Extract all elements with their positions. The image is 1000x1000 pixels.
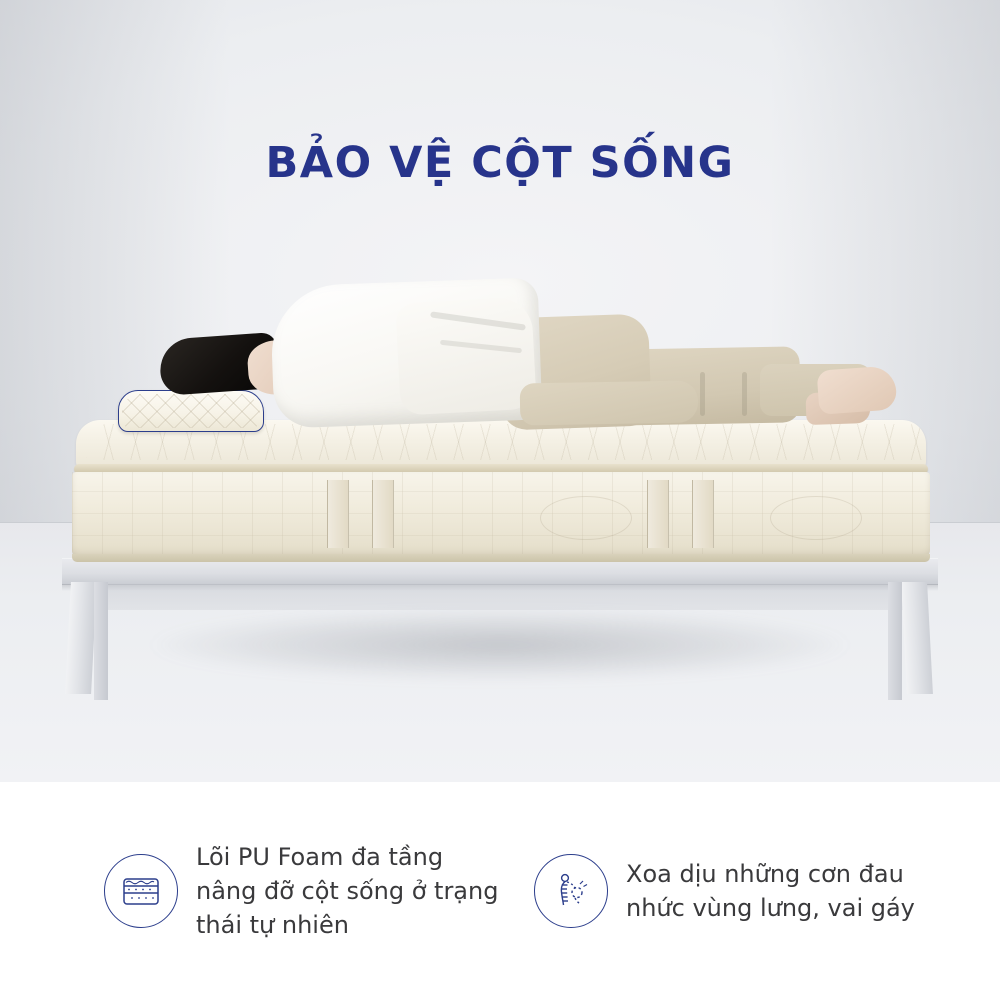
feature-bar: Lõi PU Foam đa tầng nâng đỡ cột sống ở t… [0, 782, 1000, 1000]
feature-item-1: Lõi PU Foam đa tầng nâng đỡ cột sống ở t… [104, 840, 504, 942]
spine-pain-relief-icon [534, 854, 608, 928]
mattress-layers-icon [104, 854, 178, 928]
person-sleeve [395, 297, 537, 416]
feature-text-2: Xoa dịu những cơn đau nhức vùng lưng, va… [626, 857, 934, 925]
pant-fold-2 [742, 372, 747, 416]
person-foot-front [817, 365, 898, 414]
promo-banner: BẢO VỆ CỘT SỐNG [0, 0, 1000, 1000]
feature-item-2: Xoa dịu những cơn đau nhức vùng lưng, va… [534, 854, 934, 928]
product-photo: BẢO VỆ CỘT SỐNG [0, 0, 1000, 782]
pant-fold-1 [700, 372, 705, 416]
person-lying-on-side [0, 0, 1000, 782]
feature-text-1: Lõi PU Foam đa tầng nâng đỡ cột sống ở t… [196, 840, 504, 942]
person-arm [520, 380, 699, 425]
